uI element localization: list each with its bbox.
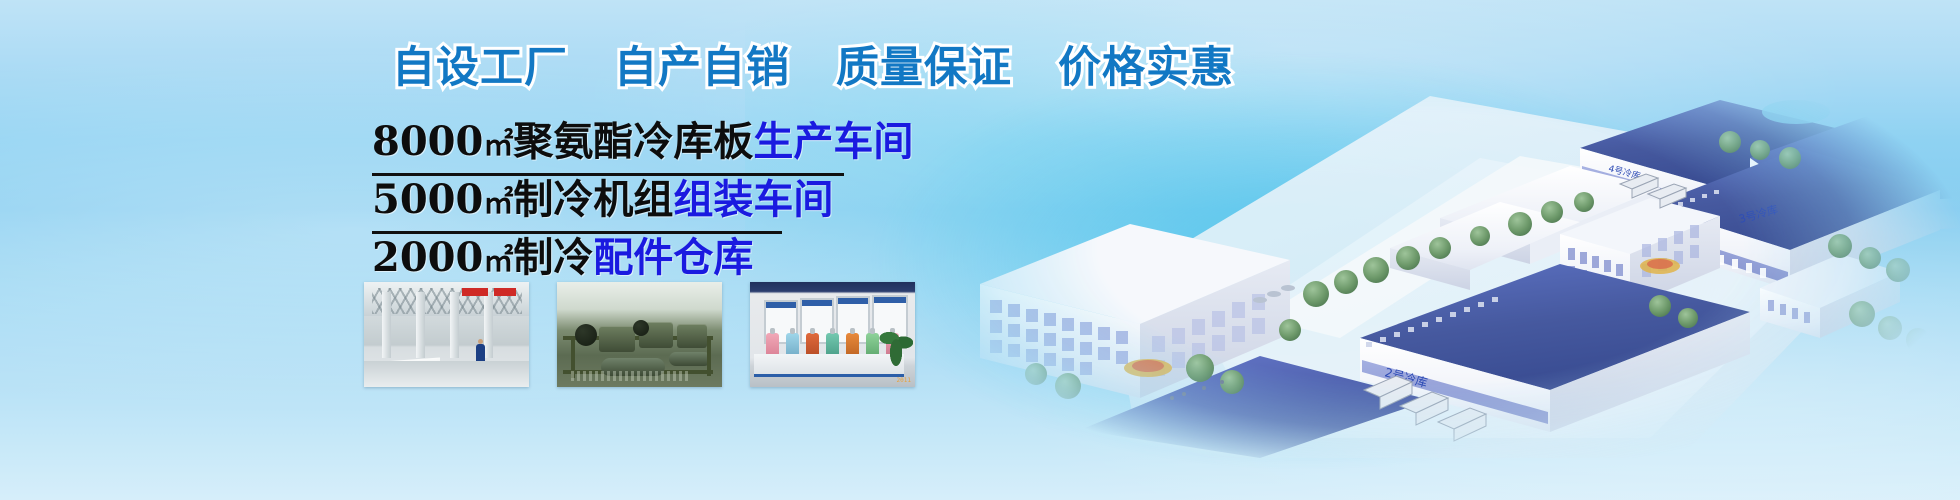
feature-line-3-unit: ㎡ xyxy=(483,244,513,279)
compressor-body xyxy=(599,326,635,352)
receiver-drum xyxy=(669,352,711,366)
workshop-red-banner xyxy=(462,288,488,296)
feature-line-3-black-text: 制冷 xyxy=(513,234,593,281)
feature-line-1: 8000㎡聚氨酯冷库板生产车间 xyxy=(372,118,844,176)
pond xyxy=(1762,100,1830,124)
workshop-column xyxy=(416,292,425,358)
feature-line-1-blue-text: 生产车间 xyxy=(753,118,913,165)
refrigeration-compressor-units-photo xyxy=(557,282,722,387)
potted-plant xyxy=(879,319,913,375)
factory-workshop-interior-photo xyxy=(364,282,529,387)
headline-item-2: 自产自销 xyxy=(614,44,790,92)
feature-line-3-number: 2000 xyxy=(372,234,483,281)
headline-item-3: 质量保证 xyxy=(836,44,1012,92)
compressor-motor xyxy=(575,324,597,346)
compressor-body xyxy=(677,324,707,348)
feature-line-2: 5000㎡制冷机组组装车间 xyxy=(372,176,782,234)
feature-lines: 8000㎡聚氨酯冷库板生产车间 5000㎡制冷机组组装车间 2000㎡制冷配件仓… xyxy=(372,118,844,289)
headline-row: 自设工厂 自产自销 质量保证 价格实惠 xyxy=(392,44,1234,92)
refrigerant-cylinder-exhibition-photo: 2011 xyxy=(750,282,915,387)
feature-line-2-black-text: 制冷机组 xyxy=(513,176,673,223)
feature-line-1-black-text: 聚氨酯冷库板 xyxy=(513,118,753,165)
feature-line-3-blue-text: 配件仓库 xyxy=(593,234,753,281)
photo-thumbnail-row: 2011 xyxy=(364,282,915,387)
headline-item-4: 价格实惠 xyxy=(1058,44,1234,92)
workshop-column xyxy=(484,292,493,358)
feature-line-1-unit: ㎡ xyxy=(483,128,513,163)
headline-item-1: 自设工厂 xyxy=(392,44,568,92)
feature-line-1-number: 8000 xyxy=(372,118,483,165)
workshop-red-banner xyxy=(494,288,516,296)
feature-line-2-blue-text: 组装车间 xyxy=(673,176,833,223)
promotional-banner: 4号冷库 2号冷库 xyxy=(0,0,1960,500)
factory-complex-aerial-rendering: 4号冷库 2号冷库 xyxy=(960,38,1960,458)
unit-leg xyxy=(707,338,711,376)
workshop-floor xyxy=(364,361,529,387)
feature-line-3: 2000㎡制冷配件仓库 xyxy=(372,234,712,289)
photo-date-stamp: 2011 xyxy=(897,377,911,384)
feature-line-2-unit: ㎡ xyxy=(483,186,513,221)
workshop-column xyxy=(450,292,459,358)
workshop-column xyxy=(382,292,391,358)
feature-line-2-number: 5000 xyxy=(372,176,483,223)
photo-watermark xyxy=(571,371,691,381)
compressor-motor xyxy=(633,320,649,336)
